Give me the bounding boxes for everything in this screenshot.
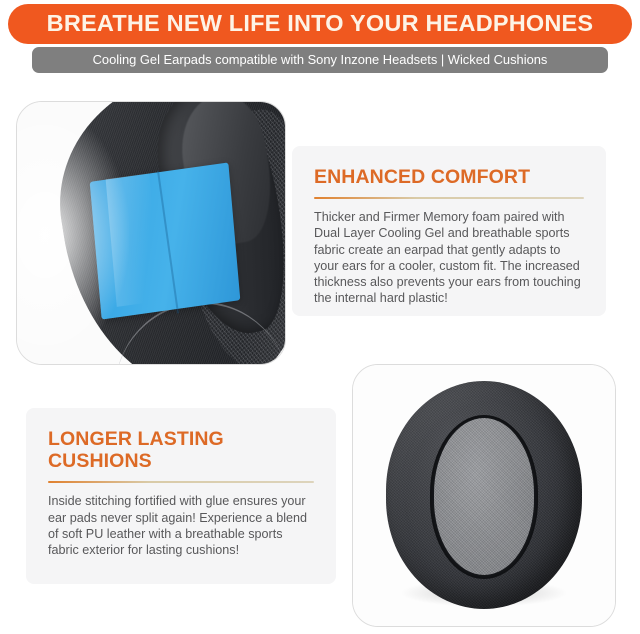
photo-highlight-glow [16,110,129,360]
page-subtitle: Cooling Gel Earpads compatible with Sony… [93,54,548,67]
oval-earpad-photo-card [352,364,616,627]
earpad-mesh-center [434,418,534,575]
subtitle-bar: Cooling Gel Earpads compatible with Sony… [32,47,608,73]
feature-body-text: Inside stitching fortified with glue ens… [48,493,314,558]
oval-earpad-image [353,365,615,626]
feature-heading: ENHANCED COMFORT [314,166,584,188]
feature-body-text: Thicker and Firmer Memory foam paired wi… [314,209,584,306]
feature-divider [48,481,314,483]
feature-heading: LONGER LASTING CUSHIONS [48,428,314,472]
feature-panel-longer-lasting-cushions: LONGER LASTING CUSHIONS Inside stitching… [26,408,336,584]
page-title: BREATHE NEW LIFE INTO YOUR HEADPHONES [47,12,594,36]
title-banner: BREATHE NEW LIFE INTO YOUR HEADPHONES [8,4,632,44]
feature-divider [314,197,584,199]
header: BREATHE NEW LIFE INTO YOUR HEADPHONES Co… [0,0,640,88]
cooling-gel-photo-card [16,101,286,365]
feature-panel-enhanced-comfort: ENHANCED COMFORT Thicker and Firmer Memo… [292,146,606,316]
cooling-gel-image [17,102,285,364]
